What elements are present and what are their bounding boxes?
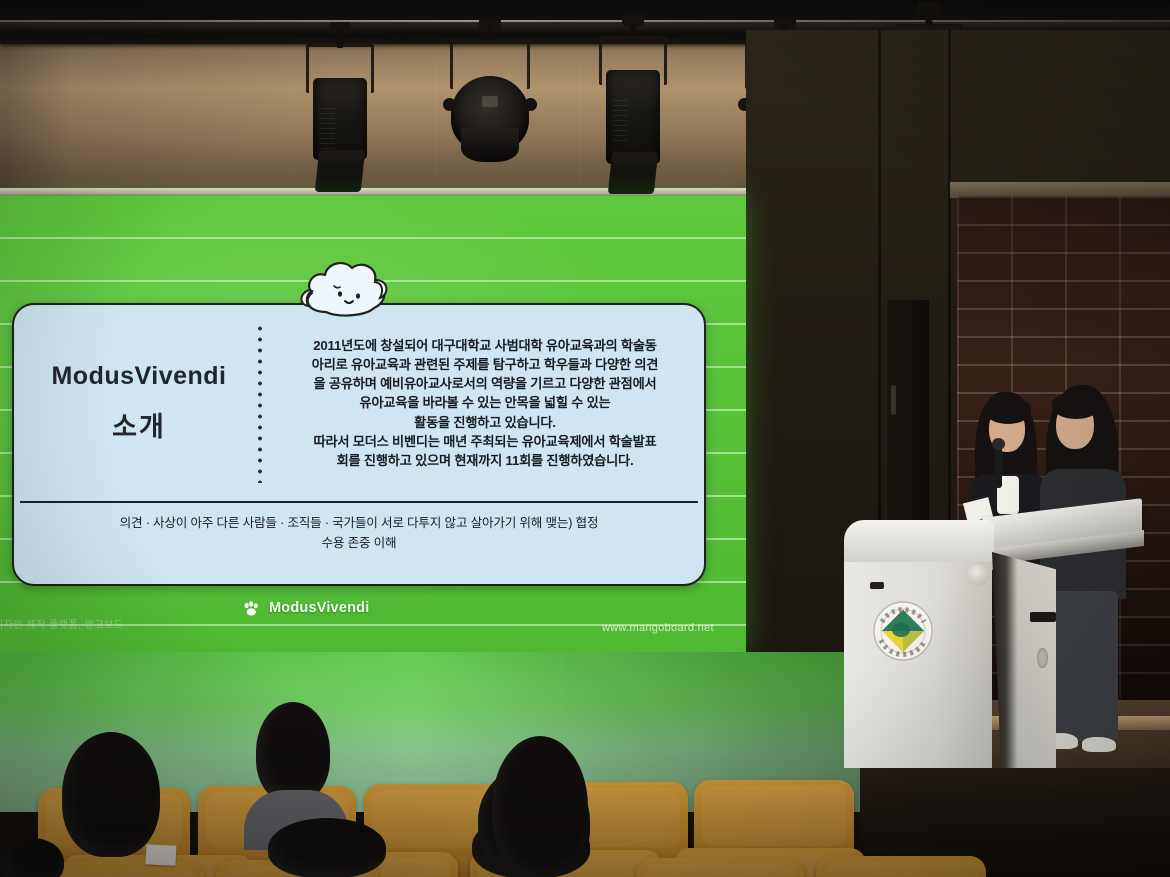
audience-person-head bbox=[492, 736, 588, 877]
lectern-podium bbox=[842, 500, 1142, 780]
podium-body bbox=[844, 562, 992, 768]
held-paper bbox=[145, 844, 176, 866]
slide-title-block: ModusVivendi 소개 bbox=[14, 362, 258, 444]
slide-brand-text: ModusVivendi bbox=[269, 600, 369, 616]
cloud-dog-icon bbox=[296, 256, 394, 318]
slide-card-main: ModusVivendi 소개 2011년도에 창설되어 대구대학교 사범대학 … bbox=[14, 305, 704, 501]
stage-spotlight-icon bbox=[593, 36, 673, 186]
definition-line: 수용 존중 이해 bbox=[120, 533, 599, 553]
auditorium-seat bbox=[816, 856, 986, 877]
slide-body-line: 유아교육을 바라볼 수 있는 안목을 넓힐 수 있는 bbox=[276, 393, 694, 412]
slide-body-line: 을 공유하며 예비유아교사로서의 역량을 기르고 다양한 관점에서 bbox=[276, 374, 694, 393]
stage-spotlight-icon bbox=[300, 44, 380, 194]
auditorium-seat bbox=[44, 862, 204, 877]
microphone-head bbox=[992, 438, 1005, 450]
audience-person-head bbox=[256, 702, 330, 802]
podium-slot bbox=[870, 582, 884, 589]
slide-content-card: ModusVivendi 소개 2011년도에 창설되어 대구대학교 사범대학 … bbox=[12, 303, 706, 586]
stage-spotlight-icon bbox=[445, 40, 535, 190]
slide-body-line: 아리로 유아교육과 관련된 주제를 탐구하고 학우들과 다양한 의견 bbox=[276, 355, 694, 374]
mangoboard-watermark: www.mangoboard.net bbox=[602, 622, 714, 634]
hair-fringe bbox=[985, 398, 1031, 424]
slide-body-line: 2011년도에 창설되어 대구대학교 사범대학 유아교육과의 학술동 bbox=[276, 336, 694, 355]
podium-knob[interactable] bbox=[967, 564, 989, 586]
definition-text-block: 의견 · 사상이 아주 다른 사람들 · 조직들 · 국가들이 서로 다투지 않… bbox=[120, 513, 599, 554]
audience-person-head bbox=[268, 818, 386, 877]
slide-body-line: 회를 진행하고 있으며 현재까지 11회를 진행하였습니다. bbox=[276, 451, 694, 470]
slide-brand-logo: ModusVivendi bbox=[243, 600, 369, 616]
slide-body-line: 따라서 모더스 비벤디는 매년 주최되는 유아교육제에서 학술발표 bbox=[276, 432, 694, 451]
slide-title-en: ModusVivendi bbox=[20, 362, 258, 391]
card-horizontal-rule bbox=[20, 501, 698, 503]
slide-body-text: 2011년도에 창설되어 대구대학교 사범대학 유아교육과의 학술동 아리로 유… bbox=[262, 336, 704, 471]
hair-fringe bbox=[1052, 393, 1100, 419]
mangoboard-left-credit: 디자인 제작 플랫폼, 망고보드 bbox=[0, 616, 124, 631]
podium-control-panel[interactable] bbox=[1030, 612, 1056, 622]
slide-body-line: 활동을 진행하고 있습니다. bbox=[276, 413, 694, 432]
audience-person-head bbox=[62, 732, 160, 857]
slide-title-ko: 소개 bbox=[20, 405, 258, 444]
university-crest-icon bbox=[872, 600, 934, 662]
slide-footer-definition: 의견 · 사상이 아주 다른 사람들 · 조직들 · 국가들이 서로 다투지 않… bbox=[14, 505, 704, 586]
definition-line: 의견 · 사상이 아주 다른 사람들 · 조직들 · 국가들이 서로 다투지 않… bbox=[120, 513, 599, 533]
auditorium-seat bbox=[636, 858, 804, 877]
microphone[interactable] bbox=[995, 444, 1002, 488]
pawprint-icon bbox=[243, 601, 260, 616]
door-handle[interactable] bbox=[891, 385, 896, 415]
podium-handle[interactable] bbox=[1037, 648, 1048, 668]
auditorium-presentation-photo: ModusVivendi www.mangoboard.net 디자인 제작 플… bbox=[0, 0, 1170, 877]
